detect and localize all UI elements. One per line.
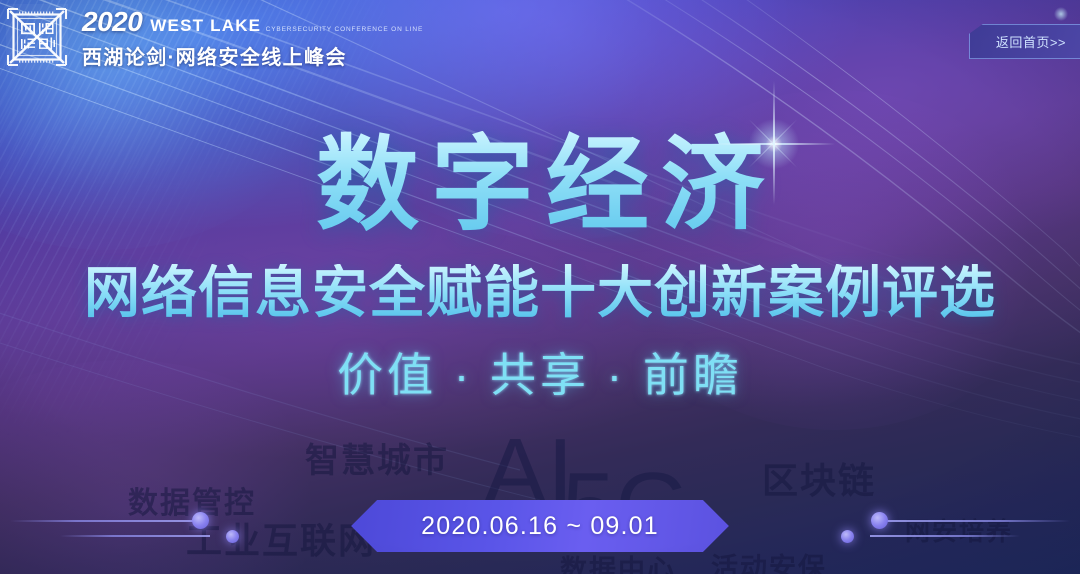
date-banner-row: 2020.06.16 ~ 09.01 [0,497,1080,555]
brand-en-subtitle: CYBERSECURITY CONFERENCE ON LINE [266,26,423,33]
date-badge: 2020.06.16 ~ 09.01 [351,500,729,552]
brand-year: 2020 [82,8,142,36]
back-to-home-button[interactable]: 返回首页>> [969,24,1080,59]
brand-lockup: 2020 WEST LAKE CYBERSECURITY CONFERENCE … [82,4,423,70]
west-lake-seal-emblem-icon [6,4,68,70]
background-keyword: 智慧城市 [305,433,449,482]
page-title: 数字经济 [0,131,1080,238]
page-subtitle: 网络信息安全赋能十大创新案例评选 [0,264,1080,323]
brand-en-title: WEST LAKE [150,16,261,35]
page-tagline: 价值 · 共享 · 前瞻 [0,350,1080,401]
hatch-pattern-left [0,40,290,470]
small-sparkle-icon [1053,6,1069,22]
brand-cn-title: 西湖论剑·网络安全线上峰会 [82,41,423,70]
header-branding: 2020 WEST LAKE CYBERSECURITY CONFERENCE … [6,4,423,70]
conference-banner: 智慧城市数据管控工业互联网区块链网安培养活动安保数据中心AI5G [0,0,1080,574]
